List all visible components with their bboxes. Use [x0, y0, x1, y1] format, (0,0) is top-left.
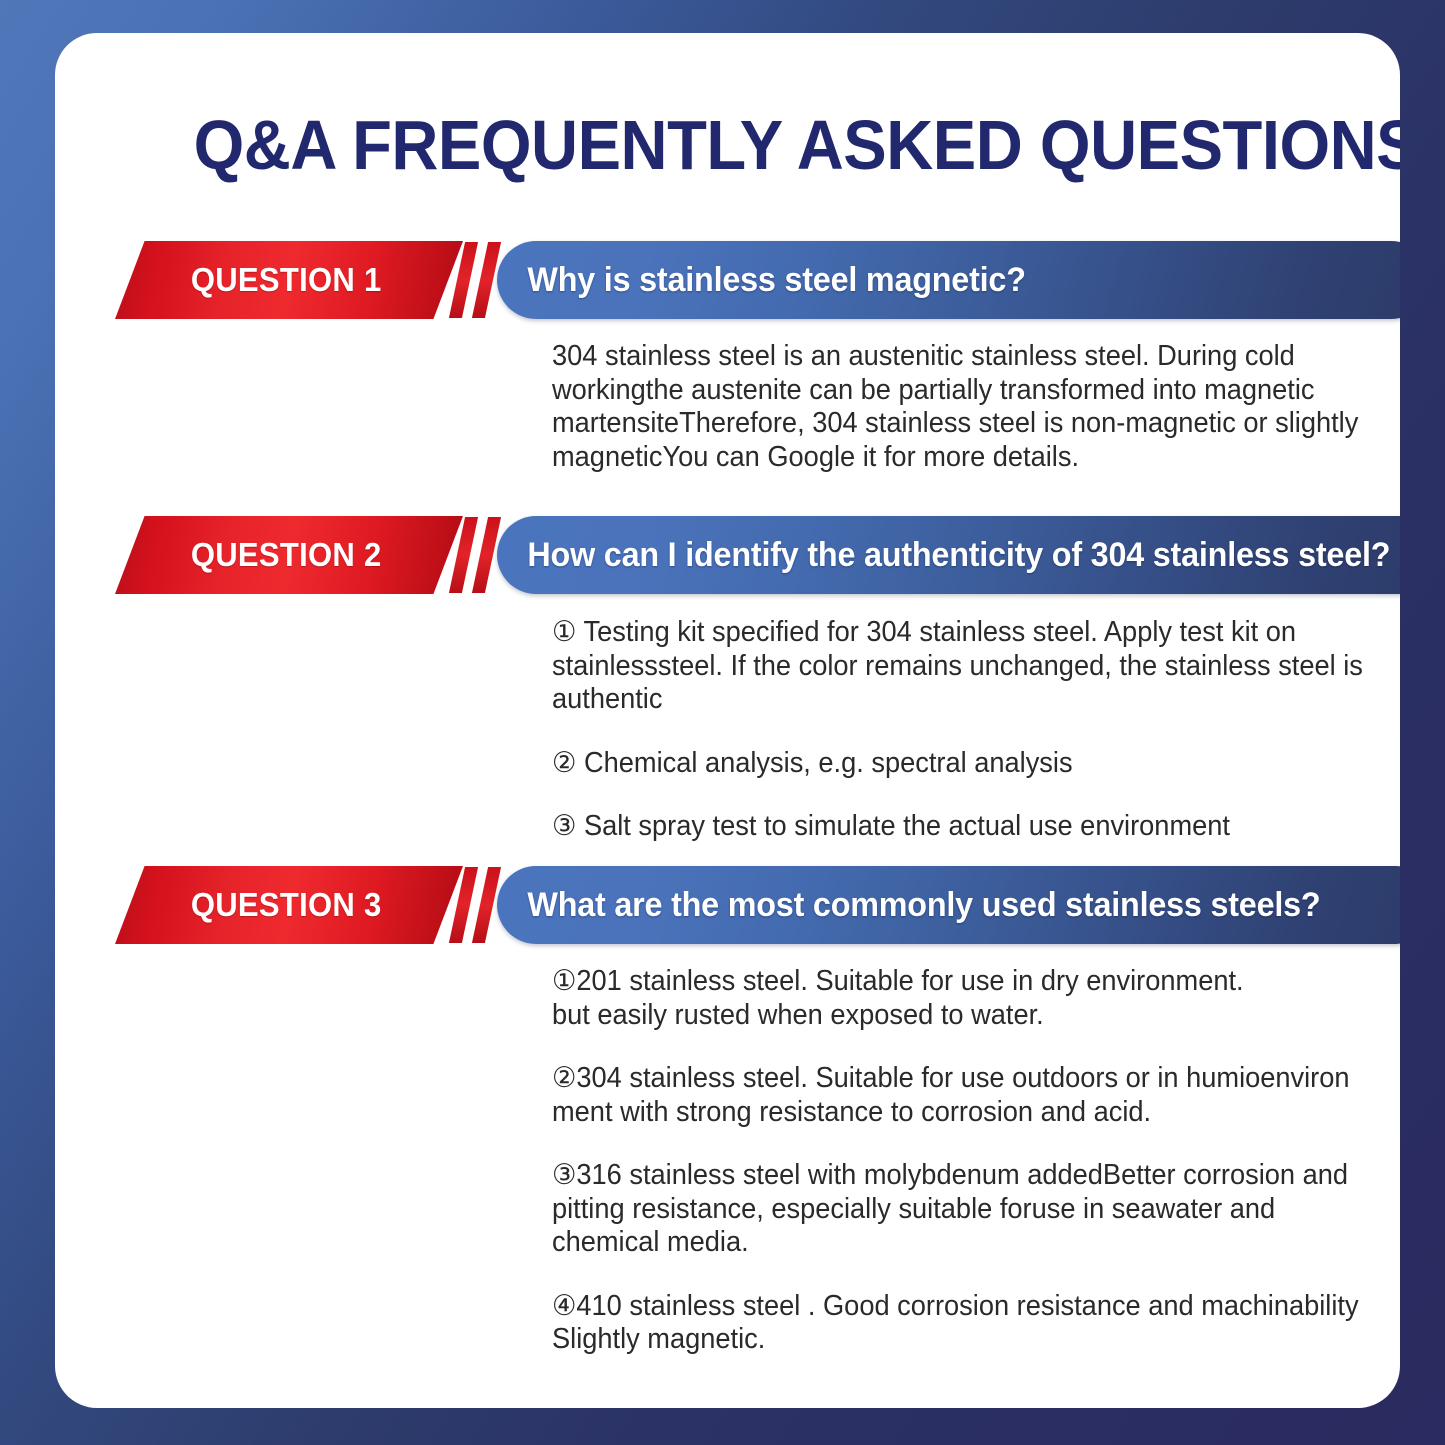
faq-row-2: QUESTION 2 How can I identify the authen… [55, 516, 1400, 594]
faq-page-background: Q&A FREQUENTLY ASKED QUESTIONS QUESTION … [0, 0, 1445, 1445]
question-bar-1[interactable]: Why is stainless steel magnetic? [497, 241, 1400, 319]
answer-paragraph: 304 stainless steel is an austenitic sta… [552, 340, 1383, 474]
question-tag-2[interactable]: QUESTION 2 [115, 516, 463, 594]
question-tag-label-1: QUESTION 1 [125, 241, 452, 319]
answer-body-1: 304 stainless steel is an austenitic sta… [552, 340, 1383, 474]
question-text-3: What are the most commonly used stainles… [497, 886, 1347, 925]
faq-row-3: QUESTION 3 What are the most commonly us… [55, 866, 1400, 944]
question-tag-label-2: QUESTION 2 [125, 516, 452, 594]
question-tag-1[interactable]: QUESTION 1 [115, 241, 463, 319]
question-bar-2[interactable]: How can I identify the authenticity of 3… [497, 516, 1400, 594]
question-tag-3[interactable]: QUESTION 3 [115, 866, 463, 944]
answer-paragraph: ④410 stainless steel . Good corrosion re… [552, 1290, 1383, 1357]
page-title: Q&A FREQUENTLY ASKED QUESTIONS [194, 105, 1273, 185]
answer-paragraph: ② Chemical analysis, e.g. spectral analy… [552, 747, 1383, 781]
answer-paragraph: ③316 stainless steel with molybdenum add… [552, 1159, 1383, 1260]
question-tag-label-3: QUESTION 3 [125, 866, 452, 944]
faq-card: Q&A FREQUENTLY ASKED QUESTIONS QUESTION … [55, 33, 1400, 1408]
answer-body-2: ① Testing kit specified for 304 stainles… [552, 616, 1383, 844]
question-text-2: How can I identify the authenticity of 3… [497, 536, 1400, 575]
answer-paragraph: ① Testing kit specified for 304 stainles… [552, 616, 1383, 717]
faq-row-1: QUESTION 1 Why is stainless steel magnet… [55, 241, 1400, 319]
answer-paragraph: ②304 stainless steel. Suitable for use o… [552, 1062, 1383, 1129]
question-text-1: Why is stainless steel magnetic? [497, 261, 1052, 300]
question-bar-3[interactable]: What are the most commonly used stainles… [497, 866, 1400, 944]
answer-paragraph: ③ Salt spray test to simulate the actual… [552, 810, 1383, 844]
answer-body-3: ①201 stainless steel. Suitable for use i… [552, 965, 1383, 1357]
answer-paragraph: ①201 stainless steel. Suitable for use i… [552, 965, 1383, 1032]
